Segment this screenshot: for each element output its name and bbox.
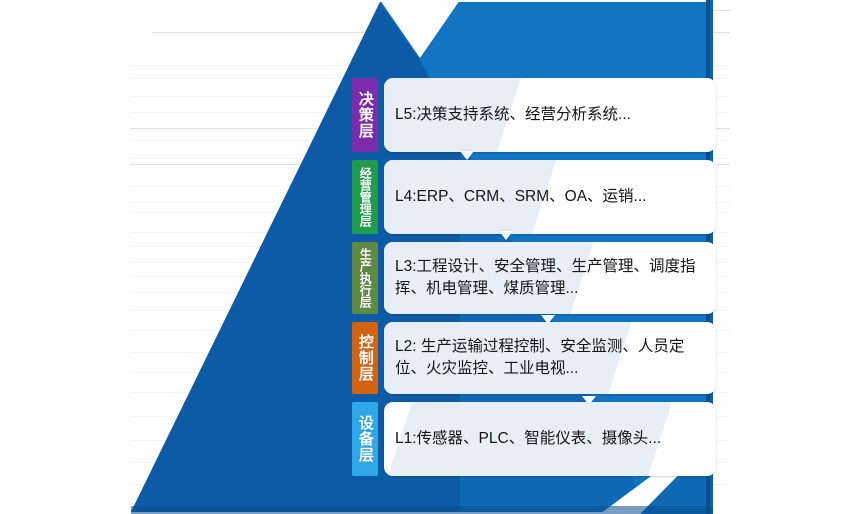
layer-row-l5[interactable]: 决策层 L5:决策支持系统、经营分析系统... xyxy=(352,78,716,152)
connector-arrow-l5-l4 xyxy=(460,151,474,160)
layer-tag-l3: 生产执行层 xyxy=(352,242,378,314)
layer-card-text-l3: L3:工程设计、安全管理、生产管理、调度指挥、机电管理、煤质管理... xyxy=(395,256,704,300)
layer-card-l1[interactable]: L1:传感器、PLC、智能仪表、摄像头... xyxy=(384,402,716,476)
layer-tag-l2: 控制层 xyxy=(352,322,378,394)
layer-tag-l5: 决策层 xyxy=(352,78,378,152)
layer-list: 决策层 L5:决策支持系统、经营分析系统... 经营管理层 L4:ERP、CRM… xyxy=(352,78,716,476)
layer-card-text-l2: L2: 生产运输过程控制、安全监测、人员定位、火灾监控、工业电视... xyxy=(395,336,704,380)
layer-row-l1[interactable]: 设备层 L1:传感器、PLC、智能仪表、摄像头... xyxy=(352,402,716,476)
connector-arrow-l3-l2 xyxy=(541,315,555,324)
layer-card-text-l1: L1:传感器、PLC、智能仪表、摄像头... xyxy=(395,428,661,450)
layer-tag-l4: 经营管理层 xyxy=(352,160,378,234)
layer-row-l4[interactable]: 经营管理层 L4:ERP、CRM、SRM、OA、运销... xyxy=(352,160,716,234)
layer-tag-l1: 设备层 xyxy=(352,402,378,476)
layer-row-l2[interactable]: 控制层 L2: 生产运输过程控制、安全监测、人员定位、火灾监控、工业电视... xyxy=(352,322,716,394)
layer-row-l3[interactable]: 生产执行层 L3:工程设计、安全管理、生产管理、调度指挥、机电管理、煤质管理..… xyxy=(352,242,716,314)
connector-arrow-l2-l1 xyxy=(582,396,596,405)
layer-card-text-l5: L5:决策支持系统、经营分析系统... xyxy=(395,104,631,126)
layer-card-l5[interactable]: L5:决策支持系统、经营分析系统... xyxy=(384,78,716,152)
connector-arrow-l4-l3 xyxy=(499,231,513,240)
layer-card-l4[interactable]: L4:ERP、CRM、SRM、OA、运销... xyxy=(384,160,716,234)
layer-card-l2[interactable]: L2: 生产运输过程控制、安全监测、人员定位、火灾监控、工业电视... xyxy=(384,322,716,394)
layer-card-text-l4: L4:ERP、CRM、SRM、OA、运销... xyxy=(395,186,646,208)
diagram-canvas: 决策层 L5:决策支持系统、经营分析系统... 经营管理层 L4:ERP、CRM… xyxy=(0,0,856,514)
pyramid-base-shadow xyxy=(131,506,713,514)
layer-card-l3[interactable]: L3:工程设计、安全管理、生产管理、调度指挥、机电管理、煤质管理... xyxy=(384,242,716,314)
